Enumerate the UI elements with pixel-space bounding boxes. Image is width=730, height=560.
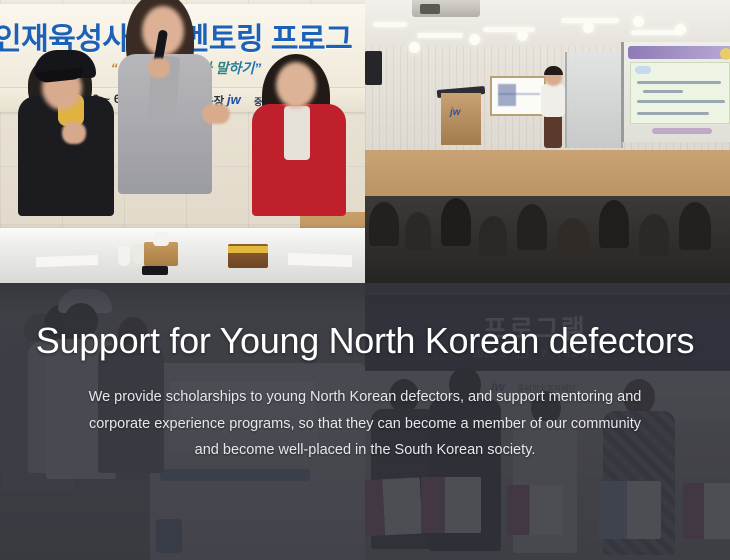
glass-door [565,52,623,148]
photo-top-right [365,0,730,283]
slide-accent [720,48,730,60]
page-title: Support for Young North Korean defectors [36,320,694,362]
hero-description: We provide scholarships to young North K… [55,384,675,464]
paper-cup [118,246,130,266]
projector [412,0,480,17]
jw-logo: jw [227,92,241,107]
slide-header [628,46,730,59]
photo-top-left: 인재육성사업 : 멘토링 프로그 “상생적 글쓰기와 말하기” 2017. 3.… [0,0,365,283]
slide-footer [652,128,712,134]
projection-screen [621,42,730,142]
slide-body [630,62,730,124]
wall-speaker [365,51,382,85]
paper-sheet [288,253,352,267]
tissue-box [144,242,178,266]
podium [441,93,481,145]
hero-description-line-3: and become well-placed in the South Kore… [55,437,675,464]
paper-cup [133,244,144,264]
phone [142,266,168,275]
snack-box [228,244,268,268]
hero-copy: Support for Young North Korean defectors… [0,283,730,560]
hero-description-line-1: We provide scholarships to young North K… [55,384,675,411]
standing-lecturer [541,68,565,146]
whiteboard [490,76,546,116]
hero-banner: 인재육성사업 : 멘토링 프로그 “상생적 글쓰기와 말하기” 2017. 3.… [0,0,730,560]
audience-rows [365,196,730,283]
hero-description-line-2: corporate experience programs, so that t… [55,411,675,438]
